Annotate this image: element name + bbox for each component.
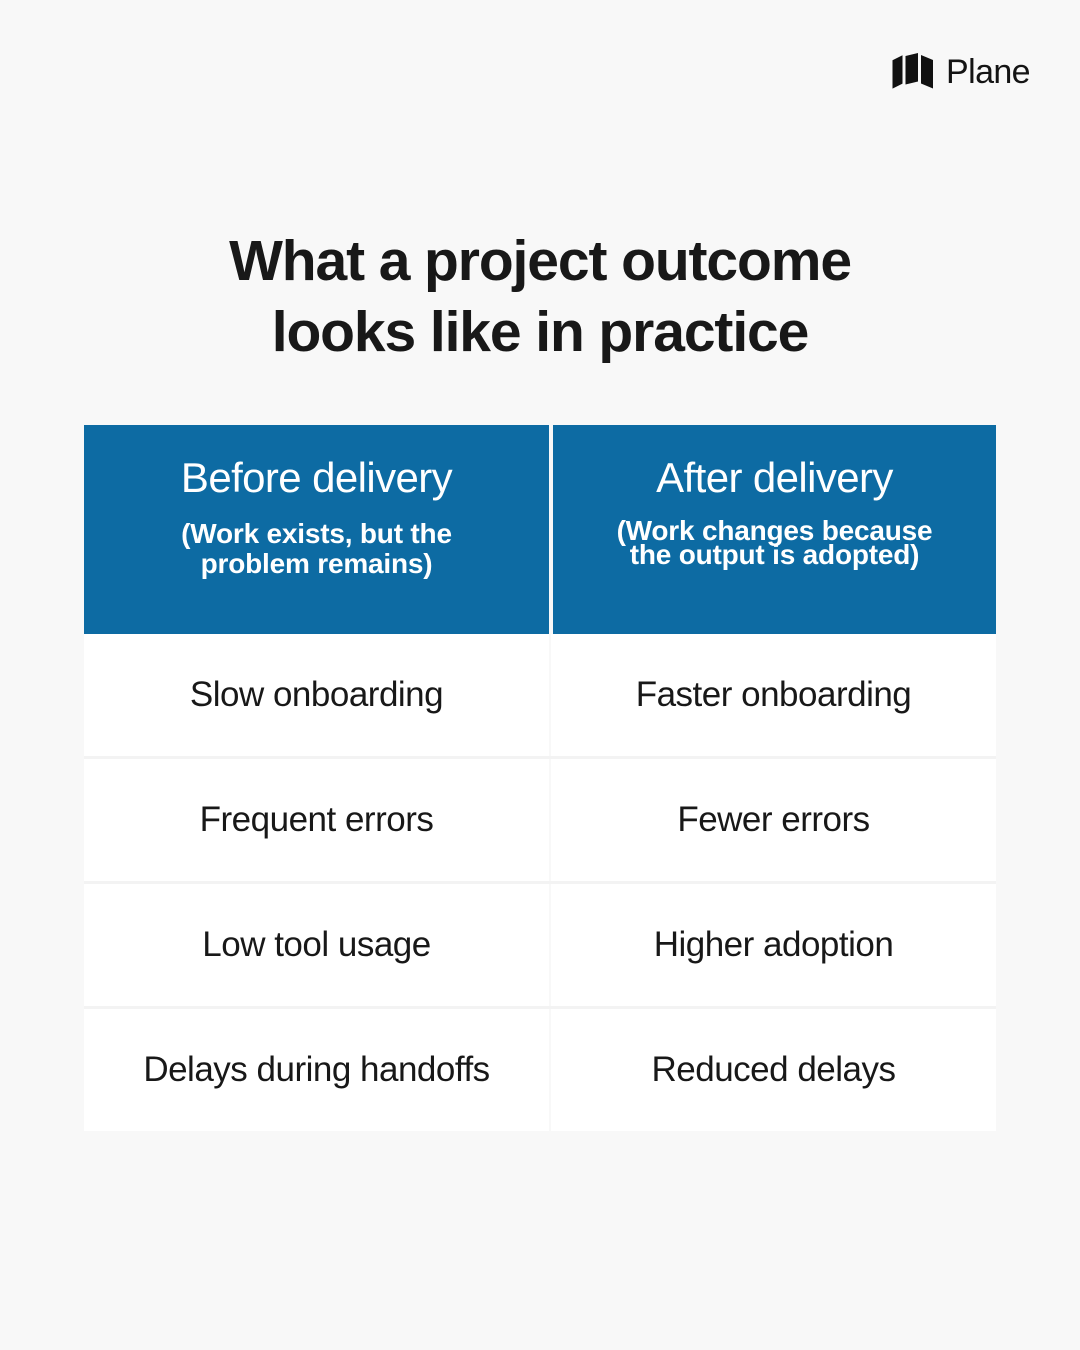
column-title-after: After delivery — [575, 453, 974, 503]
table-row: Slow onboarding Faster onboarding — [84, 634, 996, 759]
table-body: Slow onboarding Faster onboarding Freque… — [84, 634, 996, 1131]
comparison-table: Before delivery (Work exists, but the pr… — [84, 425, 996, 1131]
table-cell-before: Delays during handoffs — [84, 1009, 549, 1131]
column-subtitle-before: (Work exists, but the problem remains) — [106, 519, 527, 579]
table-cell-before: Slow onboarding — [84, 634, 549, 756]
plane-logo-icon — [891, 52, 935, 92]
table-row: Delays during handoffs Reduced delays — [84, 1009, 996, 1131]
brand-name: Plane — [946, 55, 1030, 89]
table-cell-before: Frequent errors — [84, 759, 549, 881]
table-cell-after: Reduced delays — [551, 1009, 996, 1131]
page-title: What a project outcome looks like in pra… — [0, 226, 1080, 367]
table-cell-after: Fewer errors — [551, 759, 996, 881]
table-header-cell-before: Before delivery (Work exists, but the pr… — [84, 425, 549, 634]
table-cell-before: Low tool usage — [84, 884, 549, 1006]
table-header-cell-after: After delivery (Work changes because the… — [553, 425, 996, 634]
infographic-page: Plane What a project outcome looks like … — [0, 0, 1080, 1350]
table-header-row: Before delivery (Work exists, but the pr… — [84, 425, 996, 634]
table-row: Frequent errors Fewer errors — [84, 759, 996, 884]
table-cell-after: Faster onboarding — [551, 634, 996, 756]
brand-lockup: Plane — [891, 52, 1030, 92]
table-row: Low tool usage Higher adoption — [84, 884, 996, 1009]
column-subtitle-after: (Work changes because the output is adop… — [575, 519, 974, 567]
column-title-before: Before delivery — [106, 453, 527, 503]
table-cell-after: Higher adoption — [551, 884, 996, 1006]
